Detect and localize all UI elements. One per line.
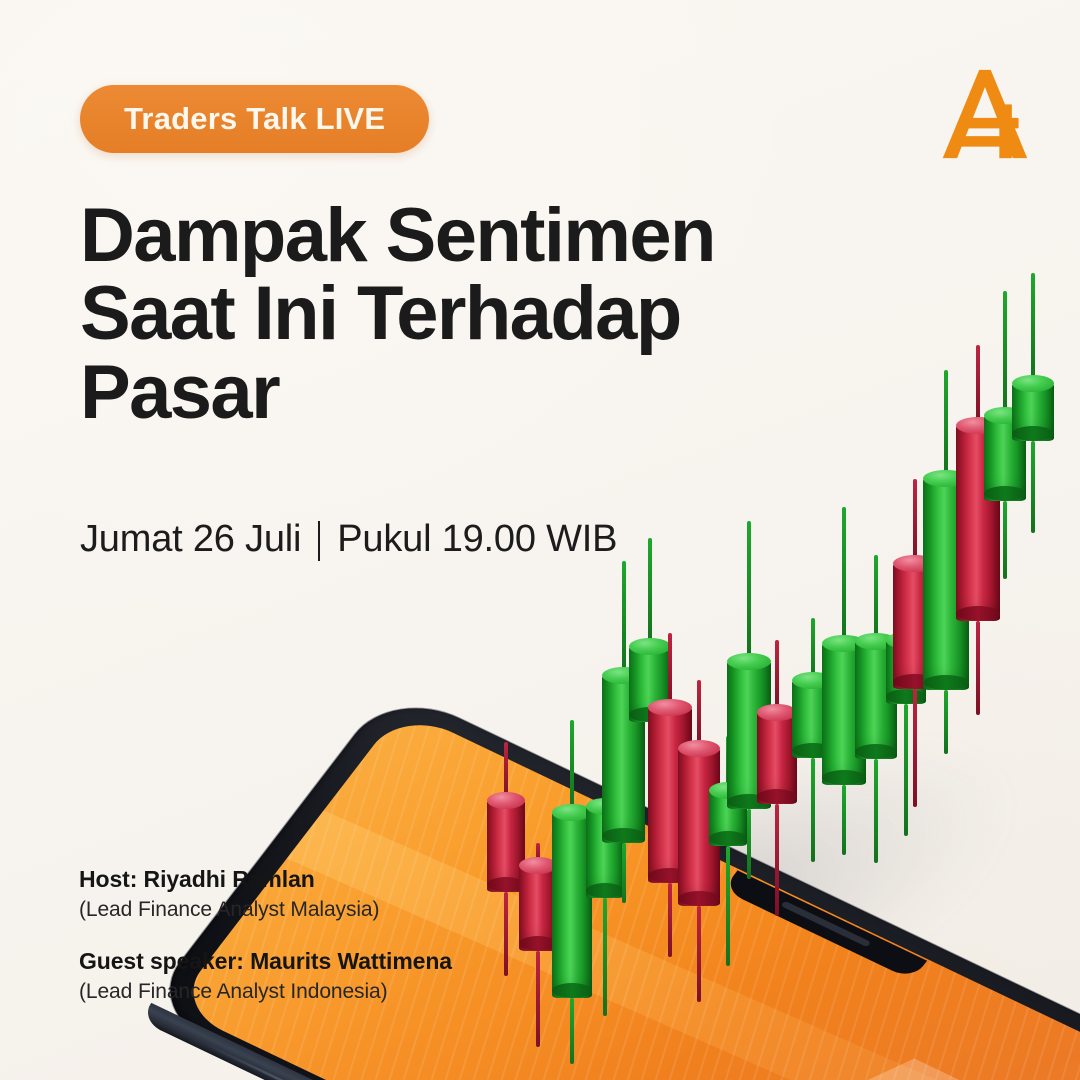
headline-line-2: Saat Ini Terhadap bbox=[80, 275, 800, 353]
speaker-credits: Host: Riyadhi Ramlan (Lead Finance Analy… bbox=[79, 866, 452, 1004]
guest-role: (Lead Finance Analyst Indonesia) bbox=[79, 980, 452, 1004]
brand-logo-icon bbox=[936, 64, 1032, 164]
credit-guest: Guest speaker: Maurits Wattimena (Lead F… bbox=[79, 948, 452, 1004]
promo-poster: Traders Talk LIVE Dampak Sentimen Saat I… bbox=[0, 0, 1080, 1080]
headline-line-1: Dampak Sentimen bbox=[80, 197, 800, 275]
live-badge[interactable]: Traders Talk LIVE bbox=[80, 85, 429, 153]
event-schedule: Jumat 26 Juli Pukul 19.00 WIB bbox=[80, 518, 617, 561]
live-badge-label: Traders Talk LIVE bbox=[124, 101, 385, 137]
event-time: Pukul 19.00 WIB bbox=[337, 518, 617, 561]
host-name: Host: Riyadhi Ramlan bbox=[79, 866, 452, 893]
schedule-separator bbox=[318, 521, 320, 561]
guest-name: Guest speaker: Maurits Wattimena bbox=[79, 948, 452, 975]
page-title: Dampak Sentimen Saat Ini Terhadap Pasar bbox=[80, 197, 800, 432]
host-role: (Lead Finance Analyst Malaysia) bbox=[79, 898, 452, 922]
event-date: Jumat 26 Juli bbox=[80, 518, 301, 561]
headline-line-3: Pasar bbox=[80, 354, 800, 432]
credit-host: Host: Riyadhi Ramlan (Lead Finance Analy… bbox=[79, 866, 452, 922]
